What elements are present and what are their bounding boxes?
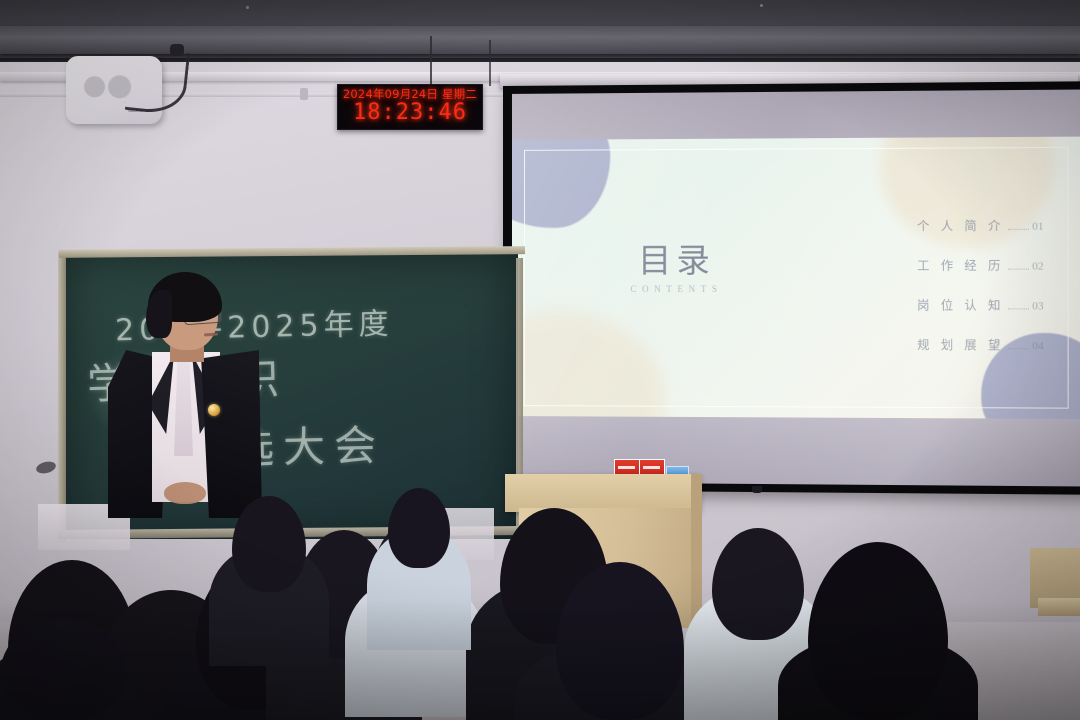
projector-screen-surface: 目录 Contents 个 人 简 介 01 工 作 经 历 02 — [512, 90, 1080, 487]
toc-item: 规 划 展 望 04 — [917, 336, 1043, 354]
toc-item: 工 作 经 历 02 — [917, 256, 1043, 273]
slide-title: 目录 — [630, 244, 722, 277]
red-box-label — [618, 466, 635, 469]
slide-decor-blob-top-left — [512, 137, 610, 228]
presenter-hair-side — [146, 290, 172, 338]
led-clock-time: 18:23:46 — [353, 101, 467, 125]
ceiling-speck — [246, 6, 249, 9]
toc-item-number: 01 — [1032, 221, 1043, 233]
toc-item-label: 规 划 展 望 — [917, 336, 1004, 354]
screen-letterbox-top — [512, 90, 1080, 140]
toc-item-number: 04 — [1032, 340, 1043, 352]
clock-wire — [430, 36, 432, 86]
podium-top — [505, 474, 701, 512]
toc-item-number: 03 — [1032, 300, 1043, 312]
led-clock-display: 2024年09月24日 星期二 18:23:46 — [337, 84, 483, 130]
slide-table-of-contents: 个 人 简 介 01 工 作 经 历 02 岗 位 认 知 03 — [917, 216, 1043, 375]
audience-head-11 — [388, 488, 450, 568]
slide-title-group: 目录 Contents — [630, 244, 722, 294]
toc-item: 岗 位 认 知 03 — [917, 296, 1043, 313]
presenter-hands — [164, 482, 206, 504]
presenter-mouth — [204, 333, 218, 337]
right-desk — [1038, 598, 1080, 616]
audience-head-10 — [232, 496, 306, 592]
toc-leader-dots — [1008, 229, 1029, 230]
clock-wire — [489, 40, 491, 86]
toc-leader-dots — [1008, 269, 1029, 270]
toc-leader-dots — [1008, 308, 1029, 309]
slide-subtitle: Contents — [630, 284, 722, 294]
toc-item-label: 工 作 经 历 — [917, 256, 1004, 273]
conduit-clip — [300, 88, 308, 100]
presenter — [112, 278, 252, 518]
blackboard-frame-left — [58, 252, 66, 542]
red-box-label — [643, 466, 660, 469]
toc-item-number: 02 — [1032, 260, 1043, 272]
toc-item: 个 人 简 介 01 — [917, 216, 1043, 234]
toc-leader-dots — [1008, 348, 1029, 349]
toc-item-label: 个 人 简 介 — [917, 217, 1004, 235]
slide-decor-cream-blob — [512, 310, 665, 419]
presentation-slide: 目录 Contents 个 人 简 介 01 工 作 经 历 02 — [512, 137, 1080, 419]
screen-bottom-mount — [752, 486, 762, 493]
projector-screen: 目录 Contents 个 人 简 介 01 工 作 经 历 02 — [503, 81, 1080, 494]
toc-item-label: 岗 位 认 知 — [917, 296, 1004, 313]
classroom-scene: 2024年09月24日 星期二 18:23:46 目录 Contents 个 人… — [0, 0, 1080, 720]
ceiling-speck — [760, 4, 763, 7]
presenter-lapel-badge — [208, 404, 220, 416]
